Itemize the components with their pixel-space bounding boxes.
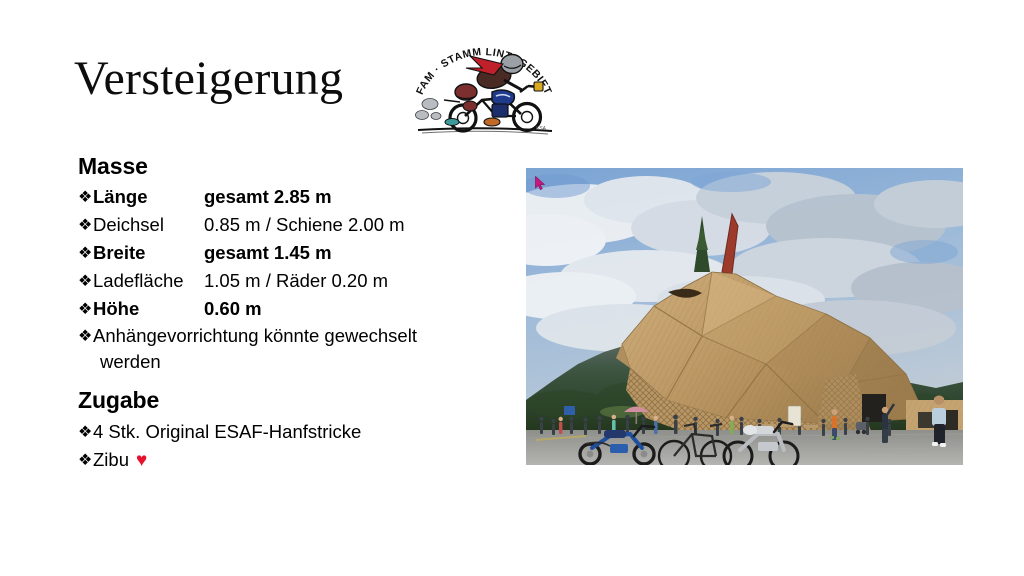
section-masse: Masse ❖ Länge gesamt 2.85 m ❖ Deichsel 0… (78, 152, 498, 374)
svg-text:ESA: ESA (536, 126, 547, 132)
measure-term: Höhe (93, 296, 204, 322)
page-title: Versteigerung (74, 52, 343, 106)
measure-term: Ladefläche (93, 268, 204, 294)
photo-wooden-bull-sculpture (526, 168, 963, 465)
diamond-bullet-icon: ❖ (78, 453, 93, 469)
diamond-bullet-icon: ❖ (78, 425, 93, 441)
club-logo: FAM · STAMM LINTHGEBIET (408, 30, 560, 140)
measure-term: Länge (93, 184, 204, 210)
diamond-bullet-icon: ❖ (78, 246, 93, 262)
measure-term: Deichsel (93, 212, 204, 238)
zugabe-text: 4 Stk. Original ESAF-Hanfstricke (93, 419, 361, 445)
diamond-bullet-icon: ❖ (78, 302, 93, 318)
list-item: ❖ 4 Stk. Original ESAF-Hanfstricke (78, 419, 498, 445)
note-line-2: werden (93, 349, 465, 375)
measure-value: gesamt 2.85 m (204, 184, 332, 210)
slide-canvas: Versteigerung FAM · STAMM LINTHGEBIET (0, 0, 1024, 576)
list-item: ❖ Höhe 0.60 m (78, 296, 498, 322)
list-item: ❖ Anhängevorrichtung könnte gewechselt w… (78, 323, 498, 374)
list-item: ❖ Länge gesamt 2.85 m (78, 184, 498, 210)
section-heading-zugabe: Zugabe (78, 386, 498, 415)
heart-icon: ♥ (129, 451, 147, 470)
measure-value: 0.60 m (204, 296, 262, 322)
list-item: ❖ Breite gesamt 1.45 m (78, 240, 498, 266)
zugabe-text: Zibu (93, 447, 129, 473)
zugabe-bullet-list: ❖ 4 Stk. Original ESAF-Hanfstricke ❖ Zib… (78, 419, 498, 473)
content-column: Masse ❖ Länge gesamt 2.85 m ❖ Deichsel 0… (78, 152, 498, 474)
note-line-1: Anhängevorrichtung könnte gewechselt (93, 325, 417, 346)
diamond-bullet-icon: ❖ (78, 190, 93, 206)
measure-value: gesamt 1.45 m (204, 240, 332, 266)
list-item: ❖ Zibu ♥ (78, 447, 498, 473)
list-item: ❖ Ladefläche 1.05 m / Räder 0.20 m (78, 268, 498, 294)
measure-term: Breite (93, 240, 204, 266)
section-heading-masse: Masse (78, 152, 498, 181)
measure-value: 1.05 m / Räder 0.20 m (204, 268, 388, 294)
masse-bullet-list: ❖ Länge gesamt 2.85 m ❖ Deichsel 0.85 m … (78, 184, 498, 374)
list-item: ❖ Deichsel 0.85 m / Schiene 2.00 m (78, 212, 498, 238)
diamond-bullet-icon: ❖ (78, 218, 93, 234)
diamond-bullet-icon: ❖ (78, 329, 93, 345)
measure-value: 0.85 m / Schiene 2.00 m (204, 212, 405, 238)
section-zugabe: Zugabe ❖ 4 Stk. Original ESAF-Hanfstrick… (78, 386, 498, 472)
diamond-bullet-icon: ❖ (78, 274, 93, 290)
